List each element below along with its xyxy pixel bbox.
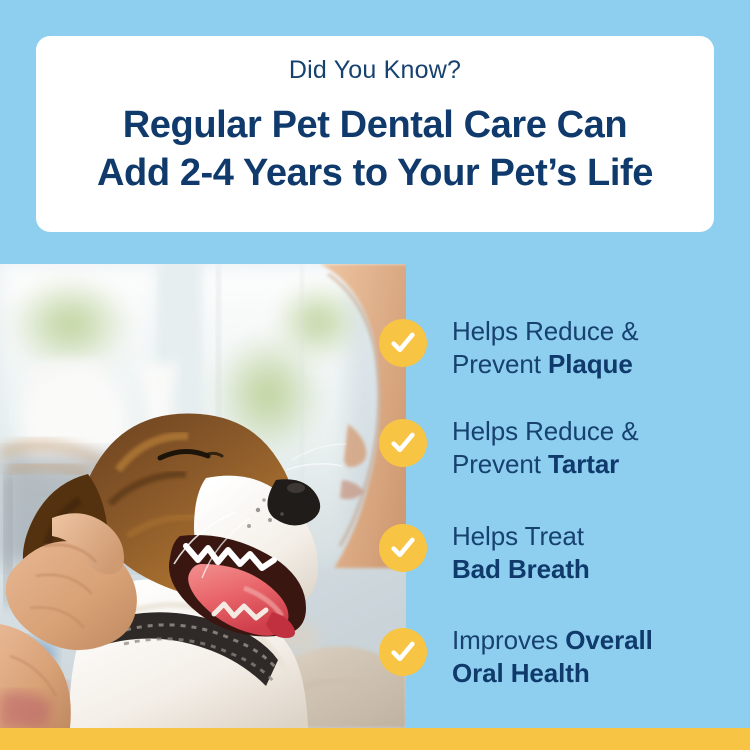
check-icon [379, 524, 427, 572]
hero-photo-illustration [0, 264, 406, 728]
benefit-line-1-emphasis: Overall [565, 625, 652, 655]
benefit-item-bad-breath: Helps Treat Bad Breath [379, 524, 750, 586]
hero-photo [0, 264, 406, 728]
check-icon [379, 628, 427, 676]
benefit-label: Helps Treat Bad Breath [452, 520, 590, 586]
benefit-line-1: Helps Treat [452, 521, 584, 551]
benefit-item-tartar: Helps Reduce & Prevent Tartar [379, 419, 750, 481]
benefit-item-oral-health: Improves Overall Oral Health [379, 628, 750, 690]
benefit-line-2-plain: Prevent [452, 449, 548, 479]
benefit-line-2-emphasis: Oral Health [452, 658, 590, 688]
benefit-line-1: Helps Reduce & [452, 316, 638, 346]
benefit-line-2-emphasis: Plaque [548, 349, 633, 379]
benefit-line-2-plain: Prevent [452, 349, 548, 379]
benefit-line-2-emphasis: Tartar [548, 449, 619, 479]
benefit-label: Helps Reduce & Prevent Plaque [452, 315, 638, 381]
benefit-line-1-plain: Improves [452, 625, 565, 655]
benefit-item-plaque: Helps Reduce & Prevent Plaque [379, 319, 750, 381]
headline-card: Did You Know? Regular Pet Dental Care Ca… [36, 36, 714, 232]
benefit-line-1: Helps Reduce & [452, 416, 638, 446]
pet-dental-care-infographic: Did You Know? Regular Pet Dental Care Ca… [0, 0, 750, 750]
bottom-accent-bar [0, 728, 750, 750]
benefit-line-2-emphasis: Bad Breath [452, 554, 590, 584]
page-title: Regular Pet Dental Care Can Add 2-4 Year… [97, 101, 653, 198]
check-icon [379, 319, 427, 367]
benefit-label: Helps Reduce & Prevent Tartar [452, 415, 638, 481]
benefit-label: Improves Overall Oral Health [452, 624, 653, 690]
eyebrow-text: Did You Know? [289, 54, 461, 87]
check-icon [379, 419, 427, 467]
